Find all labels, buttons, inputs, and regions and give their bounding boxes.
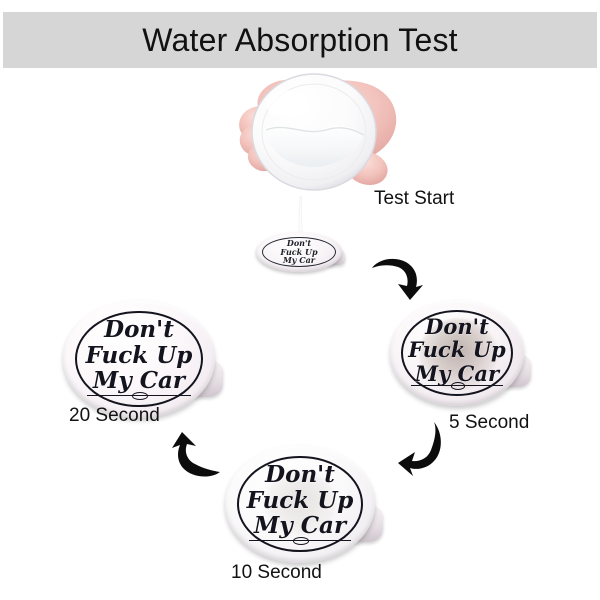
arrow-up-left-icon	[166, 432, 222, 480]
coaster-text-line-1: Don't	[104, 317, 174, 343]
coaster-text-line-3: My Car	[283, 256, 315, 264]
coaster-test-start: Don't Fuck Up My Car	[256, 232, 342, 272]
step-label-10-second: 10 Second	[231, 562, 322, 584]
cup-highlight	[266, 90, 310, 118]
coaster-ornament	[411, 382, 502, 389]
coaster-engraved-text: Don't Fuck Up My Car	[78, 319, 200, 392]
coaster-5-second: Don't Fuck Up My Car	[390, 300, 524, 406]
step-label-5-second: 5 Second	[449, 412, 529, 434]
coaster-10-second: Don't Fuck Up My Car	[225, 445, 375, 563]
coaster-text-line-1: Don't	[425, 315, 489, 339]
coaster-text-line-2: Fuck Up	[247, 488, 354, 514]
coaster-engraved-text: Don't Fuck Up My Car	[403, 317, 510, 383]
coaster-20-second: Don't Fuck Up My Car	[63, 300, 215, 418]
header-band: Water Absorption Test	[3, 12, 597, 68]
step-label-20-second: 20 Second	[69, 405, 160, 427]
page-title: Water Absorption Test	[3, 12, 597, 68]
coaster-text-line-2: Fuck Up	[408, 338, 505, 362]
step-label-test-start: Test Start	[374, 188, 454, 210]
coaster-ornament	[249, 537, 351, 544]
coaster-text-line-3: My Car	[93, 368, 185, 394]
coaster-engraved-text: Don't Fuck Up My Car	[240, 464, 360, 537]
arrow-down-left-icon	[398, 420, 446, 480]
arrow-down-right-icon	[370, 256, 426, 302]
coaster-text-line-2: Fuck Up	[86, 343, 193, 369]
infographic-page: Water Absorption Test	[0, 0, 600, 600]
coaster-ornament	[87, 392, 190, 399]
coaster-engraved-text: Don't Fuck Up My Car	[265, 238, 334, 267]
coaster-text-line-3: My Car	[254, 513, 346, 539]
coaster-text-line-1: Don't	[265, 462, 335, 488]
